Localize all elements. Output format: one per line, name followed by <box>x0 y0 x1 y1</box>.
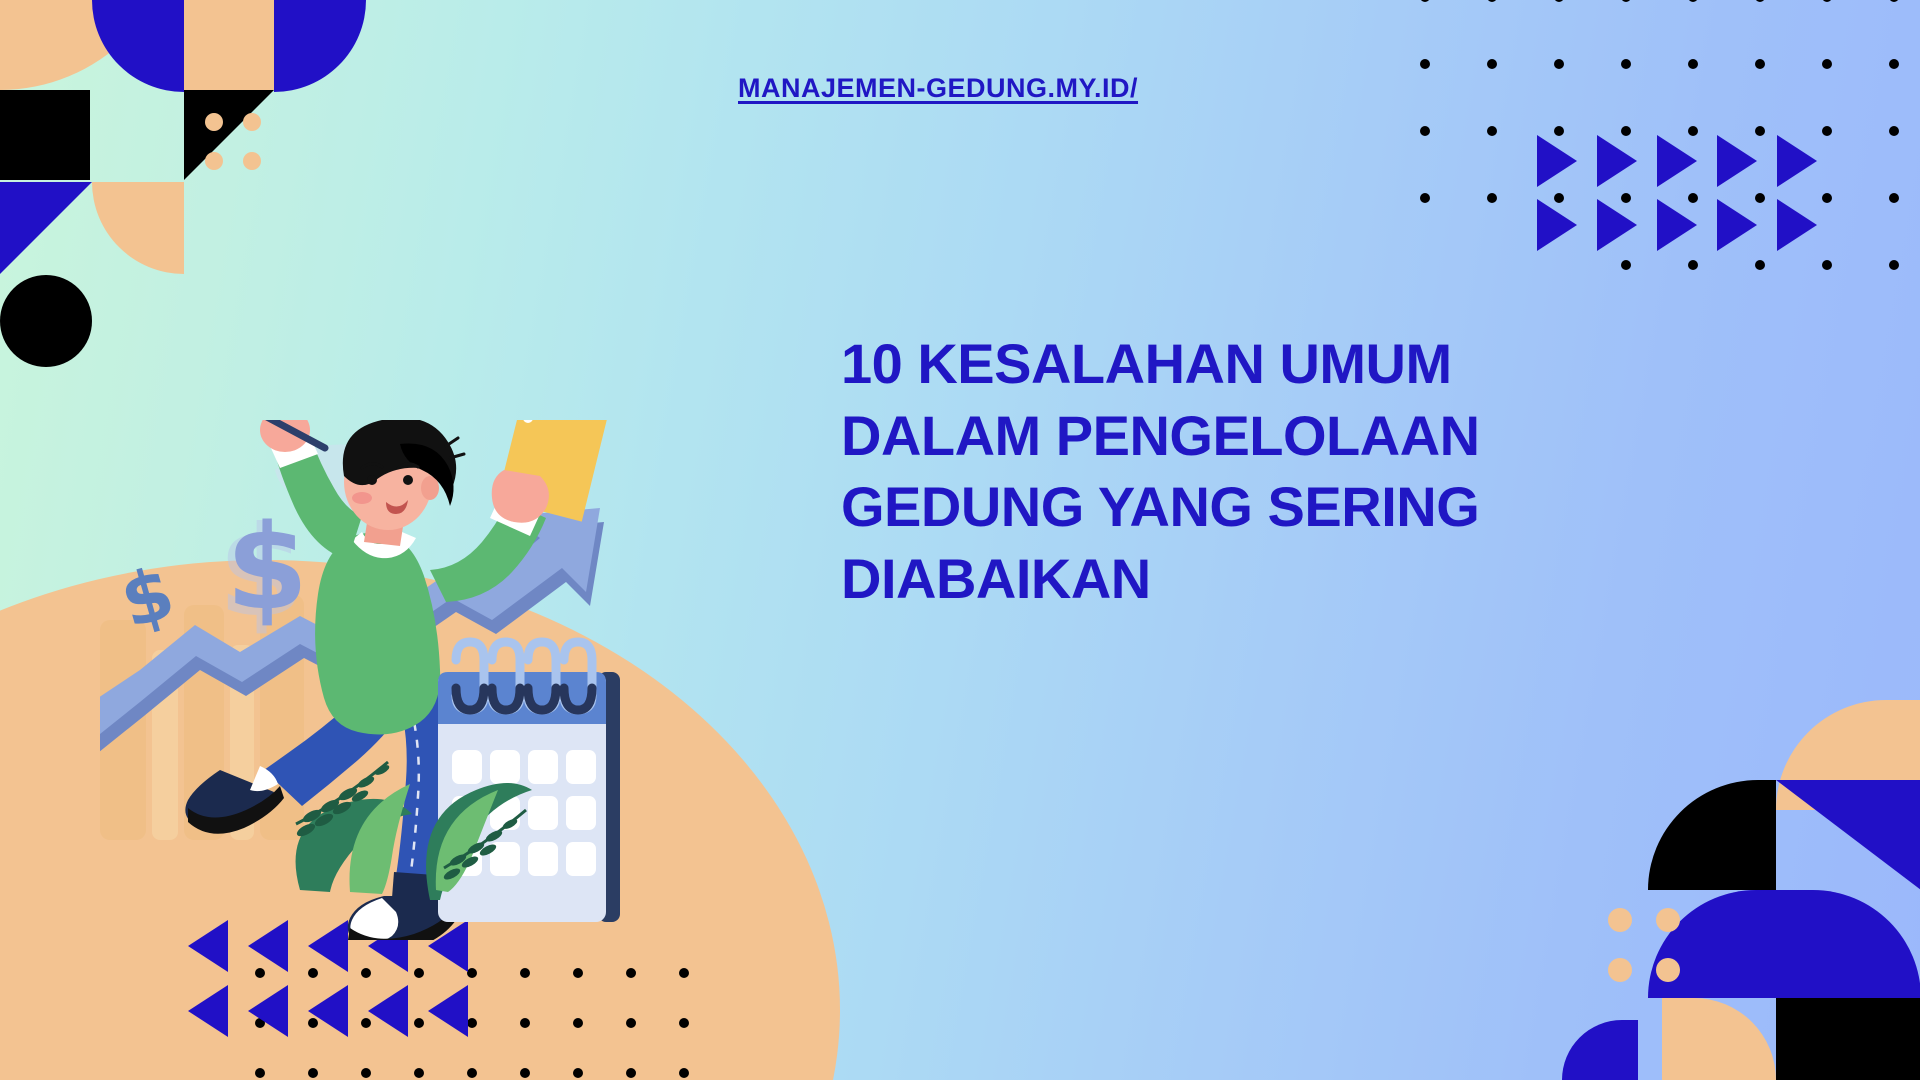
bottom-right-decoration-cluster <box>1590 720 1920 1080</box>
top-left-decoration-cluster <box>0 0 380 380</box>
cheek-icon <box>352 492 372 504</box>
site-url-link[interactable]: MANAJEMEN-GEDUNG.MY.ID/ <box>738 73 1138 104</box>
peach-dot-icon <box>1608 958 1632 982</box>
peach-dot-icon <box>205 113 223 131</box>
play-triangle-left-icon <box>308 985 348 1037</box>
black-triangle-icon <box>184 90 274 180</box>
black-square-icon <box>1776 998 1920 1080</box>
blue-half-circle-icon <box>1648 890 1920 998</box>
black-circle-icon <box>0 275 92 367</box>
play-triangle-left-icon <box>428 985 468 1037</box>
play-triangle-right-icon <box>1537 199 1577 251</box>
eye-icon <box>403 475 413 485</box>
page-title: 10 KESALAHAN UMUM DALAM PENGELOLAAN GEDU… <box>841 328 1661 615</box>
hand-right-icon <box>492 470 549 523</box>
play-triangle-right-icon <box>1657 199 1697 251</box>
play-triangle-right-icon <box>1597 135 1637 187</box>
play-triangle-right-icon <box>1717 135 1757 187</box>
peach-dot-icon <box>1608 908 1632 932</box>
eye-icon <box>367 475 377 485</box>
headline-line-4: DIABAIKAN <box>841 543 1661 615</box>
black-quarter-circle-icon <box>1648 780 1776 890</box>
peach-dot-icon <box>1656 908 1680 932</box>
headline-line-3: GEDUNG YANG SERING <box>841 471 1661 543</box>
play-triangle-left-icon <box>188 985 228 1037</box>
peach-quarter-circle-lower-icon <box>1662 998 1776 1080</box>
play-triangle-right-icon <box>1537 135 1577 187</box>
headline-line-2: DALAM PENGELOLAAN <box>841 400 1661 472</box>
peach-dot-icon <box>1656 958 1680 982</box>
play-triangle-right-icon <box>1597 199 1637 251</box>
play-triangle-right-icon <box>1657 135 1697 187</box>
peach-quarter-circle-lower-icon <box>92 182 184 274</box>
svg-text:$: $ <box>226 498 308 636</box>
sweater-torso-icon <box>315 533 440 735</box>
play-triangle-left-icon <box>248 985 288 1037</box>
blue-triangle-icon <box>0 182 92 274</box>
play-triangle-right-icon <box>1777 199 1817 251</box>
play-triangle-left-icon <box>368 985 408 1037</box>
businessman-growth-illustration: $ $ $ <box>100 420 680 940</box>
peach-dot-icon <box>243 152 261 170</box>
peach-square-icon <box>184 0 274 90</box>
blue-quarter-circle-icon <box>1562 1020 1638 1080</box>
play-triangle-right-icon <box>1717 199 1757 251</box>
blue-quarter-circle-icon <box>274 0 366 92</box>
peach-dot-icon <box>243 113 261 131</box>
peach-dot-icon <box>205 152 223 170</box>
play-triangle-right-icon <box>1777 135 1817 187</box>
headline-line-1: 10 KESALAHAN UMUM <box>841 328 1661 400</box>
desk-calendar-icon <box>438 642 620 922</box>
black-square-icon <box>0 90 90 180</box>
dollar-sign-large-front-icon: $ <box>226 498 308 636</box>
banner-canvas: $ $ $ <box>0 0 1920 1080</box>
